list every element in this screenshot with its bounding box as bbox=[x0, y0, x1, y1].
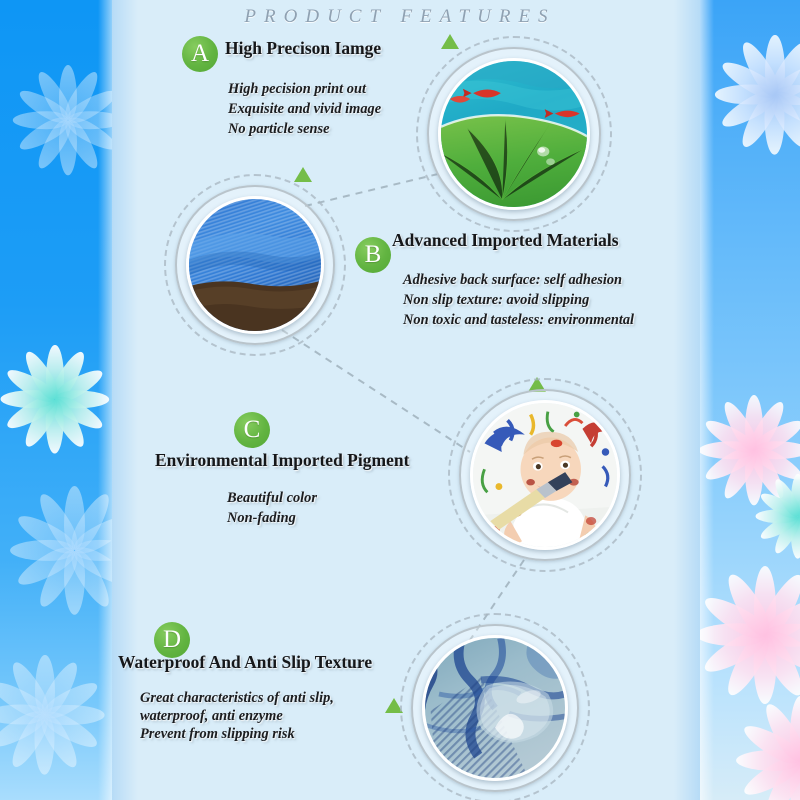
badge-c: C bbox=[234, 412, 270, 448]
body-d-line-2: waterproof, anti enzyme bbox=[140, 706, 283, 726]
body-a-line-2: Exquisite and vivid image bbox=[228, 99, 381, 119]
image-a-wrapper bbox=[438, 58, 590, 210]
image-c-baby-painting bbox=[470, 400, 620, 550]
page-title: PRODUCT FEATURES bbox=[0, 6, 800, 28]
badge-a: A bbox=[182, 36, 218, 72]
ghost-flower-lower-left bbox=[0, 650, 110, 780]
heading-d: Waterproof And Anti Slip Texture bbox=[118, 652, 372, 673]
body-c-line-1: Beautiful color bbox=[227, 488, 317, 508]
ghost-flower-top-left bbox=[8, 60, 112, 180]
image-b-wrapper bbox=[186, 196, 324, 334]
image-b-blue-fabric bbox=[186, 196, 324, 334]
left-inner-fade bbox=[112, 0, 138, 800]
heading-a: High Precison Iamge bbox=[225, 38, 381, 59]
product-features-infographic: PRODUCT FEATURES A High Precison Iamge H… bbox=[0, 0, 800, 800]
arrow-to-image-a bbox=[441, 34, 459, 49]
body-b-line-3: Non toxic and tasteless: environmental bbox=[403, 310, 634, 330]
blue-flower-top-right bbox=[710, 30, 800, 160]
ghost-flower-bottom-left bbox=[4, 480, 112, 620]
teal-flower-right bbox=[752, 470, 800, 562]
body-d-line-1: Great characteristics of anti slip, bbox=[140, 688, 334, 708]
right-decorative-border bbox=[700, 0, 800, 800]
body-a-line-3: No particle sense bbox=[228, 119, 330, 139]
left-decorative-border bbox=[0, 0, 112, 800]
image-d-wrapper bbox=[422, 635, 568, 781]
heading-c: Environmental Imported Pigment bbox=[155, 450, 409, 471]
heading-b: Advanced Imported Materials bbox=[392, 230, 619, 251]
image-d-water-droplet-texture bbox=[422, 635, 568, 781]
pink-flower-bottom-right bbox=[700, 560, 800, 710]
image-a-koi-fish-lotus-leaf bbox=[438, 58, 590, 210]
body-a-line-1: High pecision print out bbox=[228, 79, 366, 99]
teal-flower-left bbox=[0, 340, 112, 458]
image-c-wrapper bbox=[470, 400, 620, 550]
body-b-line-1: Adhesive back surface: self adhesion bbox=[403, 270, 622, 290]
arrow-to-image-b bbox=[294, 167, 312, 182]
badge-b: B bbox=[355, 237, 391, 273]
body-d-line-3: Prevent from slipping risk bbox=[140, 724, 295, 744]
body-c-line-2: Non-fading bbox=[227, 508, 296, 528]
body-b-line-2: Non slip texture: avoid slipping bbox=[403, 290, 589, 310]
pink-flower-corner-right bbox=[730, 690, 800, 800]
right-inner-fade bbox=[674, 0, 700, 800]
